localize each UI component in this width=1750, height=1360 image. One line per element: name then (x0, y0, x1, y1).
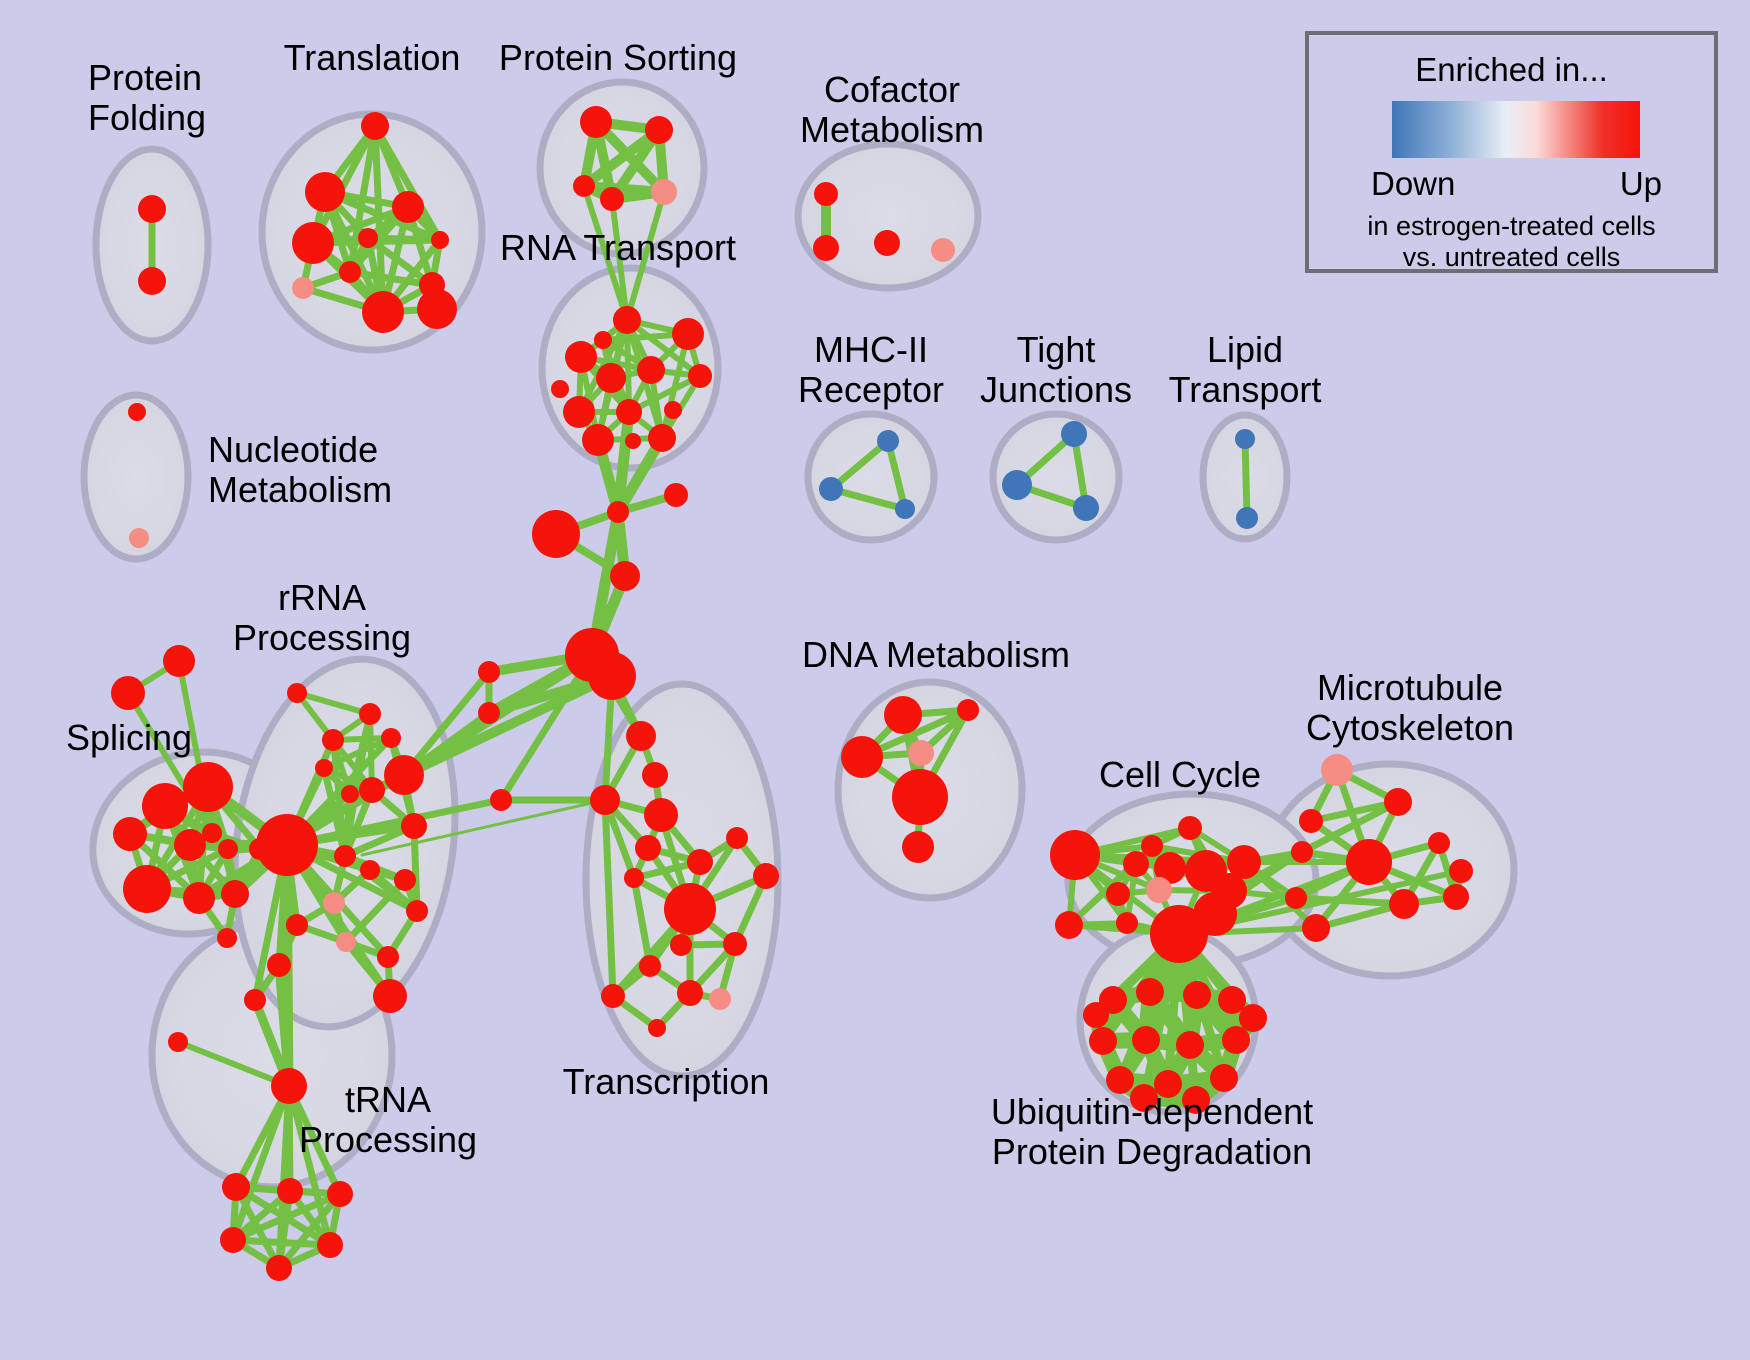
legend-up-label: Up (1620, 165, 1662, 203)
cluster-label-protein-sorting: Protein Sorting (499, 38, 737, 78)
cluster-label-translation: Translation (284, 38, 461, 78)
network-figure: .hull{fill:url(#cg);stroke:#adadc6;strok… (0, 0, 1750, 1360)
cluster-label-tight-junctions: Tight Junctions (980, 330, 1132, 410)
cluster-label-nucleotide-metabolism: Nucleotide Metabolism (208, 430, 392, 510)
cluster-label-cofactor-metabolism: Cofactor Metabolism (800, 70, 984, 150)
legend-subtitle: in estrogen-treated cellsvs. untreated c… (1309, 211, 1714, 273)
cluster-label-dna-metabolism: DNA Metabolism (802, 635, 1070, 675)
cluster-label-rrna-processing: rRNA Processing (233, 578, 411, 658)
cluster-label-transcription: Transcription (563, 1062, 770, 1102)
cluster-label-microtubule-cytoskeleton: Microtubule Cytoskeleton (1306, 668, 1514, 748)
cluster-label-lipid-transport: Lipid Transport (1169, 330, 1322, 410)
hull-mhc-ii-receptor (808, 414, 934, 540)
legend-down-label: Down (1371, 165, 1455, 203)
legend-color-gradient (1392, 101, 1640, 158)
cluster-label-cell-cycle: Cell Cycle (1099, 755, 1261, 795)
cluster-label-protein-folding: Protein Folding (88, 58, 206, 138)
legend-subtitle-line1: in estrogen-treated cells (1367, 211, 1655, 241)
legend-title: Enriched in... (1309, 51, 1714, 89)
cluster-label-mhc-ii-receptor: MHC-II Receptor (798, 330, 944, 410)
cluster-label-ubiquitin-protein-degradation: Ubiquitin-dependent Protein Degradation (991, 1092, 1313, 1172)
legend-box: Enriched in... Down Up in estrogen-treat… (1305, 31, 1718, 273)
legend-subtitle-line2: vs. untreated cells (1403, 242, 1621, 272)
cluster-label-splicing: Splicing (66, 718, 192, 758)
cluster-label-rna-transport: RNA Transport (500, 228, 736, 268)
cluster-label-trna-processing: tRNA Processing (299, 1080, 477, 1160)
